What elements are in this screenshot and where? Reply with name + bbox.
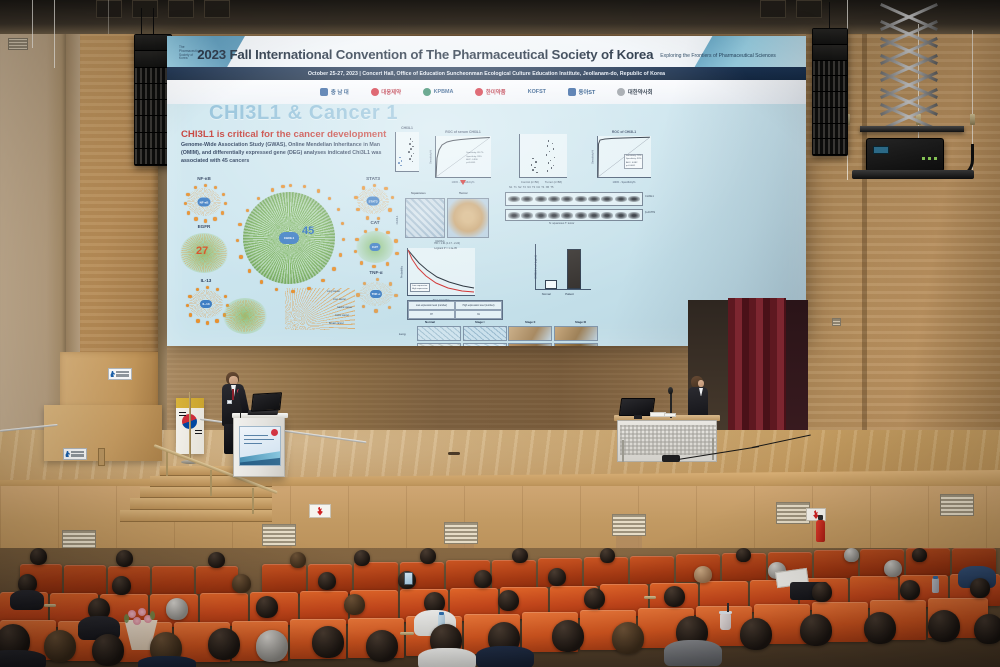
sponsor-mark-icon (371, 88, 379, 96)
sponsor-name: 대웅제약 (381, 88, 401, 96)
audience-head (736, 548, 751, 562)
network-cluster-nfkb: NF-κB NF-κB (183, 184, 225, 220)
ceiling-grid-panel (132, 0, 158, 18)
network-cluster-egfr: EGFR 27 (179, 232, 229, 274)
table-papers (664, 413, 676, 417)
blot-target-label: CHI3L1 (645, 195, 654, 198)
panel-line (244, 443, 262, 444)
table-cell: 87 (408, 310, 455, 319)
audience-seat[interactable] (262, 564, 306, 594)
ihc-cell (463, 343, 507, 346)
apron-vent (262, 524, 296, 546)
audience-seat[interactable] (630, 556, 674, 584)
cluster-label: IL-13 (201, 278, 212, 283)
blot-panel-actin (505, 209, 643, 221)
audience-head (970, 578, 990, 598)
table-cell: 91 (455, 310, 502, 319)
bar-normal (545, 280, 557, 289)
audience-shoulders-front (476, 646, 534, 667)
plot-axes (395, 132, 419, 172)
network-fan-right (285, 288, 355, 330)
stage-floor-pocket (448, 452, 460, 455)
wheelchair-icon (65, 451, 70, 457)
ceiling-grid-panel (204, 0, 230, 18)
sign-text-lines (71, 451, 84, 457)
survival-stat: HR = 1.61 (1.17 - 2.24) (434, 242, 460, 245)
wall-seam-right (862, 0, 867, 470)
audience-seat[interactable] (64, 565, 106, 595)
cluster-label: EGFR (198, 224, 211, 229)
sponsor-name: KOFST (528, 89, 546, 95)
banner-title-row: 2023 Fall International Convention of Th… (167, 41, 806, 67)
panel-line (244, 435, 268, 436)
audience-head (232, 574, 251, 593)
sponsor-logo: 대한약사회 (617, 88, 652, 96)
group-label: Tumor (n=58) (545, 180, 562, 184)
plot-ylabel: Sensitivity% (429, 150, 432, 164)
audience-head (208, 552, 225, 568)
ihc-column-label: Normal (425, 320, 435, 324)
fan-label: Breast cancer (329, 322, 344, 325)
cluster-label: TNF-α (369, 270, 382, 275)
cluster-core: STAT3 (367, 197, 380, 206)
expression-level-table: Low expression level (number) High expre… (407, 300, 503, 320)
audience-shoulders-front (138, 656, 196, 667)
apron-vent (940, 494, 974, 516)
head-table-skirt (620, 425, 716, 455)
audience-seat[interactable] (492, 560, 536, 589)
ihc-cell (554, 343, 598, 346)
audience-head (344, 594, 365, 615)
blot-panel-chi3l1 (505, 192, 643, 206)
projector-scissor-lift (876, 8, 942, 126)
audience-head (116, 550, 133, 567)
monitor-stand (634, 415, 642, 419)
fire-extinguisher-sign (309, 504, 331, 518)
presenter-laptop-screen[interactable] (251, 392, 282, 411)
audience-head (290, 552, 306, 568)
audience-head-front (44, 630, 76, 662)
audience-seat[interactable] (152, 566, 194, 595)
sponsor-name: 대한약사회 (628, 88, 653, 96)
sponsor-logo: 대웅제약 (371, 88, 401, 96)
right-line-array-speaker (812, 28, 848, 156)
handrail-post (166, 452, 168, 476)
cluster-core: IL-13 (200, 300, 212, 308)
audience-head (900, 580, 920, 600)
sponsor-name: 충 남 대 (331, 88, 349, 96)
audience-head (664, 586, 685, 607)
audience-head (912, 548, 927, 562)
audience-head (166, 598, 188, 620)
cluster-count: 27 (196, 245, 208, 257)
accessibility-sign (63, 448, 87, 460)
audience-head (548, 568, 566, 586)
event-banner: ThePharmaceuticalSociety of Korea 2023 F… (167, 36, 806, 104)
audience-head-front (366, 630, 398, 662)
fan-label: Liver cancer (333, 298, 346, 301)
plot-western-blot: N1 T1 N2 T2 N3 T3 N4 T4 N5 T5 CHI3L1 β-A… (505, 190, 651, 226)
lectern-branding-panel (239, 426, 281, 466)
wheelchair-icon (110, 371, 115, 377)
cup-lid (719, 611, 732, 614)
ihc-cell (417, 326, 461, 341)
network-cluster-tnfa: TNF-α TNF-α (355, 278, 397, 310)
plot-ylabel: Probability (401, 266, 404, 278)
blot-target-label: β-ACTIN (645, 211, 655, 214)
cluster-core: CAT (370, 243, 381, 251)
survival-legend: Low expression High expression (410, 283, 430, 292)
lift-control-panel[interactable] (98, 448, 105, 466)
wall-panel-left (0, 0, 66, 470)
chair-face (698, 380, 704, 387)
roc-stats: Sensitivity: 89.7% Specificity: 93% AUC:… (465, 152, 484, 166)
ihc-cell (417, 343, 461, 346)
sponsor-mark-icon (423, 88, 431, 96)
audience-head (30, 548, 47, 565)
plot-title: CHI3L1 (401, 126, 413, 130)
audience-head (112, 576, 131, 595)
iced-coffee-cup (720, 614, 731, 630)
presenter-name-badge (227, 400, 232, 404)
network-cluster-il13: IL-13 IL-13 (185, 286, 227, 322)
sponsor-logo-row: 충 남 대 대웅제약 KPBMA 한미약품 KOFST (167, 80, 806, 104)
microphone-head (668, 387, 673, 394)
audience-head-front (312, 626, 344, 658)
sign-text-lines (116, 371, 129, 377)
projector-status-leds (922, 157, 937, 160)
table-leg (622, 440, 624, 462)
table-header-cell: Low expression level (number) (408, 301, 455, 310)
fire-extinguisher (816, 520, 825, 542)
audience-head (584, 588, 605, 609)
speaker-rigging (153, 8, 154, 34)
bouquet-flower (133, 617, 141, 625)
survival-stat: Logrank P = 1.1e-05 (434, 247, 457, 250)
plot-bar-chi3l1-level: CHI3L1 level (ng/ml) Normal Patient (535, 244, 591, 290)
rigging-clamp (970, 114, 975, 125)
ceiling-grid-panel (760, 0, 786, 18)
panel-accent-dot (271, 429, 278, 436)
sponsor-mark-icon (617, 88, 625, 96)
plot-roc-chi3l1: ROC of CHI3L1 Sensitivity% 100% - Specif… (597, 136, 651, 178)
flag-trigram (179, 415, 186, 416)
bouquet-greenery (150, 611, 155, 620)
table-header-cell: High expression level (number) (455, 301, 502, 310)
ceiling-grid-panel (796, 0, 822, 18)
bottle-cap (439, 612, 444, 615)
audience-head (694, 566, 712, 583)
cluster-core: NF-κB (198, 198, 211, 207)
audience-head (474, 570, 492, 588)
sponsor-name: 동아ST (578, 88, 595, 96)
seat-armrest (44, 604, 56, 607)
accessibility-sign (108, 368, 132, 380)
fan-label: Colon cancer (335, 314, 349, 317)
rigging-wire (32, 0, 33, 48)
plot-xlabel: 100% - Specificity% (613, 181, 636, 184)
tissue-image-squamous (405, 198, 445, 238)
tissue-column-label: Squamous (411, 191, 426, 195)
sponsor-mark-icon (475, 88, 483, 96)
table-leg (712, 438, 714, 460)
tissue-column-label: Tumor (459, 191, 468, 195)
ihc-stage-grid (417, 326, 598, 346)
audience-area (0, 548, 1000, 667)
audience-head (498, 590, 519, 611)
audience-head (256, 596, 278, 618)
banner-subtitle: October 25-27, 2023 | Concert Hall, Offi… (308, 71, 665, 77)
cluster-label: NF-κB (197, 176, 211, 181)
flame-icon (316, 507, 324, 516)
banner-tagline: Exploring the Frontiers of Pharmaceutica… (660, 49, 776, 59)
rigging-wire (108, 0, 109, 34)
plot-title: ROC of CHI3L1 (612, 130, 636, 134)
audience-head-front (612, 622, 644, 654)
bottle-cap (933, 576, 938, 579)
plot-title: ROC of serum CHI3L1 (445, 130, 480, 134)
tissue-row-label: CHI3L1 (396, 216, 399, 225)
flag-pole (189, 392, 191, 464)
audience-shoulders-front (664, 640, 722, 666)
blot-lane-labels: N1 T1 N2 T2 N3 T3 N4 T4 N5 T5 (509, 186, 553, 189)
sponsor-logo: KPBMA (423, 88, 453, 96)
audience-head (884, 560, 902, 577)
sponsor-name: 한미약품 (486, 88, 506, 96)
network-hub-chi3l1: CHI3L1 45 (235, 184, 343, 292)
wall-vent (8, 38, 28, 50)
water-bottle (932, 578, 939, 593)
ihc-row-label: Lung (399, 332, 405, 336)
ihc-cell (463, 326, 507, 341)
ihc-cell (554, 326, 598, 341)
fire-extinguisher-valve (818, 515, 823, 520)
sponsor-logo: KOFST (528, 89, 546, 95)
plot-survival-curve: Probability Time (months) HR = 1.61 (1.1… (407, 248, 475, 296)
banner-subtitle-row: October 25-27, 2023 | Concert Hall, Offi… (167, 67, 806, 80)
plot-scatter-control-tumor: Control (n=50) Tumor (n=58) (519, 134, 567, 178)
hub-count: 45 (302, 225, 314, 237)
network-cluster-stat3: STAT3 STAT3 (353, 184, 393, 218)
cluster-core: TNF-α (370, 290, 382, 298)
bar-label: Normal (542, 292, 551, 296)
fan-label: Gastric cancer (337, 306, 352, 309)
slide-title: CHI3L1 & Cancer 1 (209, 102, 509, 125)
network-bottom-spokes (225, 300, 265, 332)
projector-lift-rail (860, 126, 964, 132)
ceiling-projector (866, 138, 944, 172)
audience-head-front (740, 618, 772, 650)
audience-shoulders (10, 590, 44, 610)
panel-line (244, 439, 274, 440)
sponsor-mark-icon (568, 88, 576, 96)
ihc-column-label: Stage II (525, 320, 535, 324)
network-cluster-cat: CAT CAT (353, 228, 397, 266)
roc-stats: Sensitivity: 78% Specificity: 93% AUC: 0… (624, 154, 643, 170)
audience-head (600, 548, 615, 563)
audience-head (354, 550, 370, 566)
audience-head-front (256, 630, 288, 662)
bar-label: Patient (565, 292, 574, 296)
audience-shoulders-front (0, 650, 46, 667)
speaker-rigging (141, 8, 142, 34)
sponsor-logo: 동아ST (568, 88, 595, 96)
presenter-necktie (232, 389, 234, 400)
speaker-rigging (829, 2, 830, 28)
flag-trigram (195, 430, 202, 431)
apron-vent (612, 514, 646, 536)
ihc-cell (508, 326, 552, 341)
group-label: Control (n=50) (521, 180, 539, 184)
blot-caption: N: squamous T: tumor (549, 222, 574, 225)
sponsor-logo: 충 남 대 (320, 88, 348, 96)
lectern (233, 415, 285, 477)
ihc-cell (508, 343, 552, 346)
plot-axes (535, 244, 591, 290)
sponsor-logo: 한미약품 (475, 88, 505, 96)
sponsor-mark-icon (320, 88, 328, 96)
audience-head (844, 548, 859, 562)
audience-head-front (92, 634, 124, 666)
bar-patient (567, 249, 580, 289)
plot-ylabel: Sensitivity% (591, 150, 594, 164)
plot-roc-serum: ROC of serum CHI3L1 Sensitivity% 100% - … (435, 136, 491, 178)
handrail-post (210, 470, 212, 496)
audience-head-front (800, 614, 832, 646)
sponsor-name: KPBMA (434, 89, 454, 95)
flag-trigram (179, 412, 186, 413)
projector-display (873, 146, 889, 154)
audience-shoulders-front (418, 648, 476, 667)
plot-scatter-chi3l1: CHI3L1 (395, 132, 419, 172)
wall-vent (832, 318, 841, 326)
ihc-column-label: Stage III (575, 320, 586, 324)
hub-core: CHI3L1 (279, 232, 299, 244)
plot-axes (519, 134, 567, 178)
plot-ihc-pair: Squamous Tumor CHI3L1 CHI3L1 (405, 194, 489, 242)
ceiling-grid-panel (168, 0, 194, 18)
audience-smartphone[interactable] (404, 572, 413, 585)
banner-title: 2023 Fall International Convention of Th… (197, 47, 653, 62)
cup-straw (727, 603, 729, 612)
flag-trigram (195, 433, 202, 434)
fan-label: Lung cancer (327, 290, 340, 293)
seat-armrest (644, 596, 656, 599)
audience-head-front (208, 628, 240, 660)
audience-seat[interactable] (354, 562, 398, 592)
audience-head (420, 548, 436, 564)
laser-pointer-arrow (460, 180, 466, 185)
audience-head-front (928, 610, 960, 642)
bouquet-greenery (124, 614, 129, 623)
ceiling-grid-panel (96, 0, 122, 18)
slide-body-text: Genome-Wide Association Study (GWAS), On… (181, 142, 386, 166)
tissue-image-tumor (447, 198, 489, 238)
cluster-label: STAT3 (366, 176, 380, 181)
audience-head (812, 582, 832, 602)
stage-step (130, 498, 272, 510)
projector-lift-plate (852, 170, 974, 179)
seat-armrest (400, 632, 414, 635)
stage-step (120, 510, 272, 522)
apron-vent (444, 522, 478, 544)
cluster-label: CAT (370, 220, 379, 225)
stage-curtain-shadow (786, 300, 808, 450)
audience-head-front (552, 620, 584, 652)
apron-vent (776, 502, 810, 524)
audience-head-front (864, 612, 896, 644)
audience-head (512, 548, 528, 563)
ihc-column-label: Stage I (475, 320, 484, 324)
rigging-wire (54, 0, 55, 68)
plot-ylabel: CHI3L1 level (ng/ml) (534, 255, 537, 279)
fire-extinguisher-sign (806, 508, 826, 521)
auditorium-photo: ThePharmaceuticalSociety of Korea 2023 F… (0, 0, 1000, 667)
handrail-post (252, 488, 254, 514)
audience-head-front (974, 614, 1000, 644)
audience-head (318, 572, 336, 590)
